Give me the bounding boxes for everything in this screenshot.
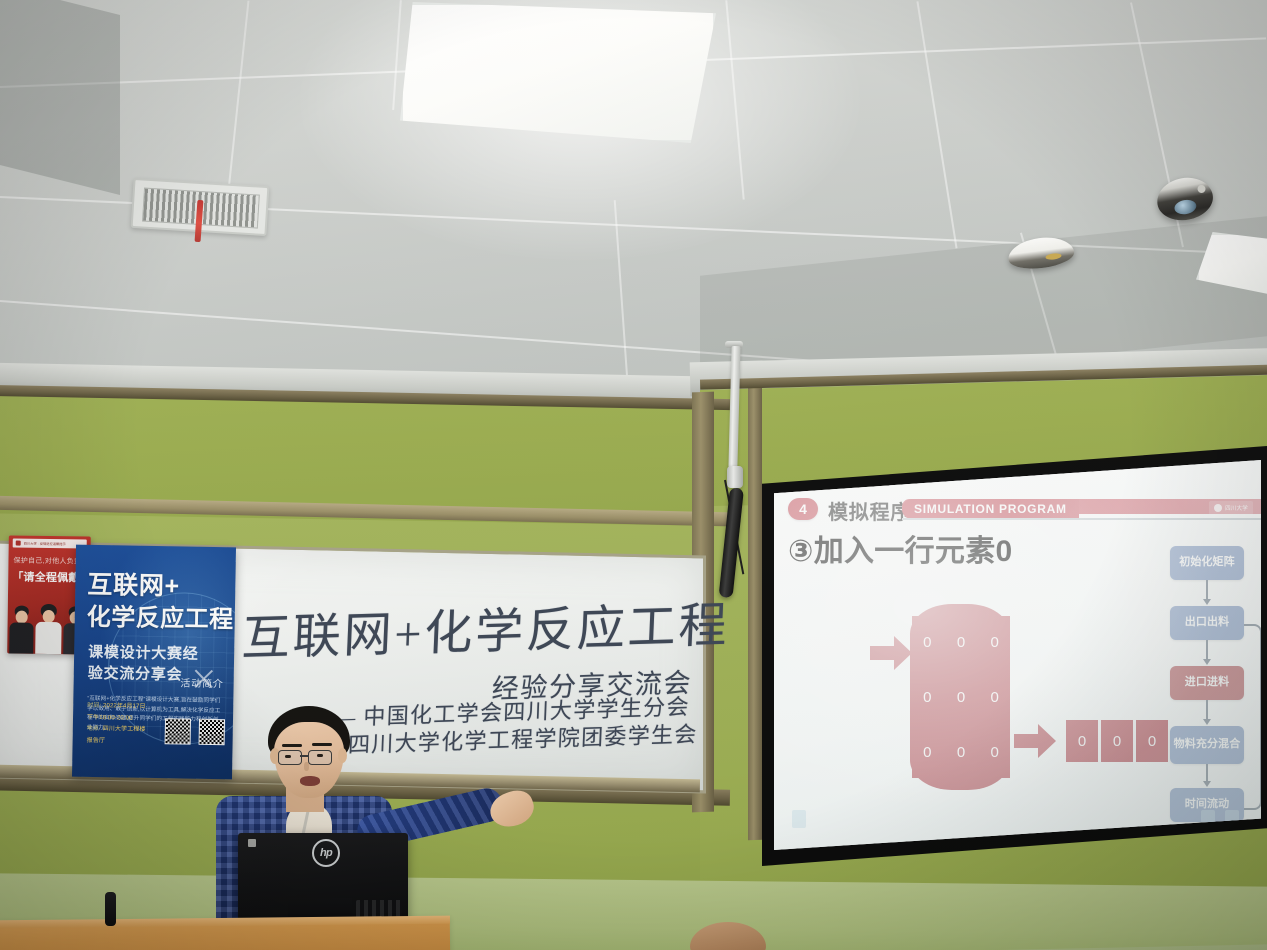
wall-post-right <box>748 380 762 840</box>
inlet-arrow-icon <box>870 636 912 670</box>
lecture-hall-photo: 互联网+化学反应工程 经验分享交流会 —— 中国化工学会四川大学学生分会 四川大… <box>0 0 1267 950</box>
flow-arrow-1 <box>1206 580 1208 600</box>
slide-mini-icon-left <box>792 810 806 828</box>
projection-screen[interactable]: 4 模拟程序 SIMULATION PROGRAM SIMULATION PRO… <box>774 458 1261 850</box>
flow-step-mixing: 物料充分混合 <box>1170 726 1244 764</box>
university-logo: 四川大学 <box>1209 501 1253 515</box>
matrix-grid: 0 0 0 0 0 0 0 0 0 <box>912 616 1010 778</box>
output-row-cell: 0 <box>1066 720 1098 762</box>
slide-content: 4 模拟程序 SIMULATION PROGRAM SIMULATION PRO… <box>774 458 1261 850</box>
flow-feedback-loop <box>1244 624 1261 810</box>
presenter-eye-left <box>285 755 291 758</box>
hp-logo-icon: hp <box>312 839 340 867</box>
glasses-lens-right <box>308 750 332 765</box>
university-logo-text: 四川大学 <box>1225 504 1248 512</box>
slide-header-underline <box>902 518 1261 520</box>
whiteboard-title: 互联网+化学反应工程 <box>241 585 732 669</box>
poster-red-header-text: 四川大学 · 疫情防控温馨提示 <box>24 541 66 547</box>
poster-subtitle-line-1: 课模设计大赛经 <box>88 643 226 666</box>
matrix-cell: 0 <box>979 616 1010 668</box>
presenter-nose <box>304 762 309 771</box>
output-row-grid: 0 0 0 <box>1066 720 1168 762</box>
ceiling-panel-light-icon <box>400 2 716 143</box>
outlet-arrow-icon <box>1014 724 1056 758</box>
slide-heading: ③加入一行元素0 <box>788 526 1013 570</box>
slide-section-title: 模拟程序 <box>828 496 911 525</box>
output-row-cell: 0 <box>1101 720 1133 762</box>
matrix-cell: 0 <box>912 726 943 778</box>
matrix-cell: 0 <box>912 671 943 723</box>
university-logo-mark-icon <box>1214 504 1222 512</box>
flow-arrow-4 <box>1206 764 1208 782</box>
poster-place-value-2: 报告厅 <box>87 735 146 747</box>
matrix-cell: 0 <box>979 726 1010 778</box>
pole-joint <box>727 466 743 488</box>
matrix-cell: 0 <box>946 726 977 778</box>
poster-qr-code-1 <box>165 718 191 744</box>
poster-place-value: 四川大学工程楼 <box>103 726 146 733</box>
matrix-cell: 0 <box>946 616 977 668</box>
presenter-eye-right <box>317 754 323 757</box>
poster-meta: 时间: 2022年4月17日 下午18:00-20:00 地点: 四川大学工程楼… <box>87 701 146 748</box>
presenter-brow-right <box>312 743 332 746</box>
presenter-brow-left <box>282 744 302 747</box>
slide-section-badge: 4 <box>788 498 818 520</box>
flow-step-init-matrix: 初始化矩阵 <box>1170 546 1244 580</box>
glasses-bridge <box>300 755 308 757</box>
flow-step-outlet: 出口出料 <box>1170 606 1244 640</box>
flow-step-inlet-highlighted: 进口进料 <box>1170 666 1244 700</box>
poster-red-logo-icon <box>16 541 21 546</box>
presenter-mouth <box>300 776 320 786</box>
marker-pen <box>105 892 116 926</box>
flow-arrow-2 <box>1206 640 1208 660</box>
output-row-cell: 0 <box>1136 720 1168 762</box>
poster-time-label: 时间: <box>87 703 101 709</box>
poster-place-label: 地点: <box>87 726 101 732</box>
matrix-cell: 0 <box>946 671 977 723</box>
poster-title-line-2: 化学反应工程 <box>87 597 230 634</box>
poster-x-decoration-icon <box>192 667 216 691</box>
monitor-bezel-tag <box>248 839 256 847</box>
matrix-cell: 0 <box>979 671 1010 723</box>
poster-time-value: 2022年4月17日 <box>103 704 146 711</box>
slide-section-title-en-overlay: SIMULATION PROGRAM <box>902 499 1079 519</box>
matrix-cell: 0 <box>912 616 943 668</box>
flow-arrow-3 <box>1206 700 1208 720</box>
